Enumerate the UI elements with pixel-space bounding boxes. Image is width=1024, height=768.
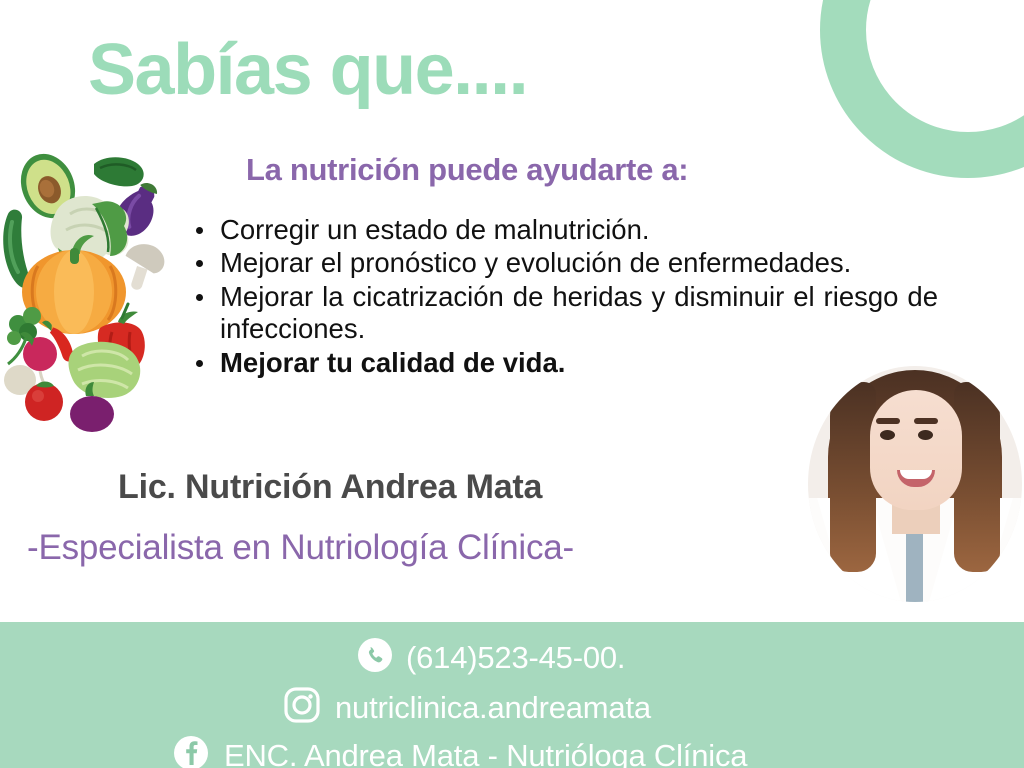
phone-icon [358, 638, 392, 677]
portrait-face [870, 390, 962, 510]
poster-canvas: Sabías que.... La nutrición puede ayudar… [0, 0, 1024, 768]
green-ring-decoration [820, 0, 1024, 178]
list-item: Corregir un estado de malnutrición. [220, 214, 938, 246]
contact-facebook[interactable]: ENC. Andrea Mata - Nutrióloga Clínica [172, 734, 747, 768]
list-item: Mejorar la cicatrización de heridas y di… [220, 281, 938, 346]
contact-instagram[interactable]: nutriclinica.andreamata [283, 686, 651, 729]
portrait-brow-right [914, 418, 938, 424]
practitioner-name: Lic. Nutrición Andrea Mata [118, 468, 542, 507]
vegetables-illustration [0, 152, 176, 432]
benefits-list: Corregir un estado de malnutrición. Mejo… [186, 214, 938, 380]
portrait-brow-left [876, 418, 900, 424]
instagram-handle: nutriclinica.andreamata [335, 690, 651, 726]
portrait-hair-left [830, 382, 876, 572]
list-item: Mejorar tu calidad de vida. [220, 347, 938, 379]
portrait-eye-left [880, 430, 895, 440]
footer-band: (614)523-45-00. nutriclinica.andreamata … [0, 622, 1024, 768]
facebook-page: ENC. Andrea Mata - Nutrióloga Clínica [224, 738, 747, 768]
contact-phone[interactable]: (614)523-45-00. [358, 638, 625, 677]
avatar [808, 366, 1022, 602]
portrait-eye-right [918, 430, 933, 440]
page-title: Sabías que.... [88, 33, 527, 109]
practitioner-specialty: -Especialista en Nutriología Clínica- [27, 528, 574, 568]
subtitle: La nutrición puede ayudarte a: [246, 152, 688, 188]
instagram-icon [283, 686, 321, 729]
portrait-lanyard [906, 528, 923, 602]
phone-number: (614)523-45-00. [406, 640, 625, 676]
list-item: Mejorar el pronóstico y evolución de enf… [220, 247, 938, 279]
facebook-icon [172, 734, 210, 768]
